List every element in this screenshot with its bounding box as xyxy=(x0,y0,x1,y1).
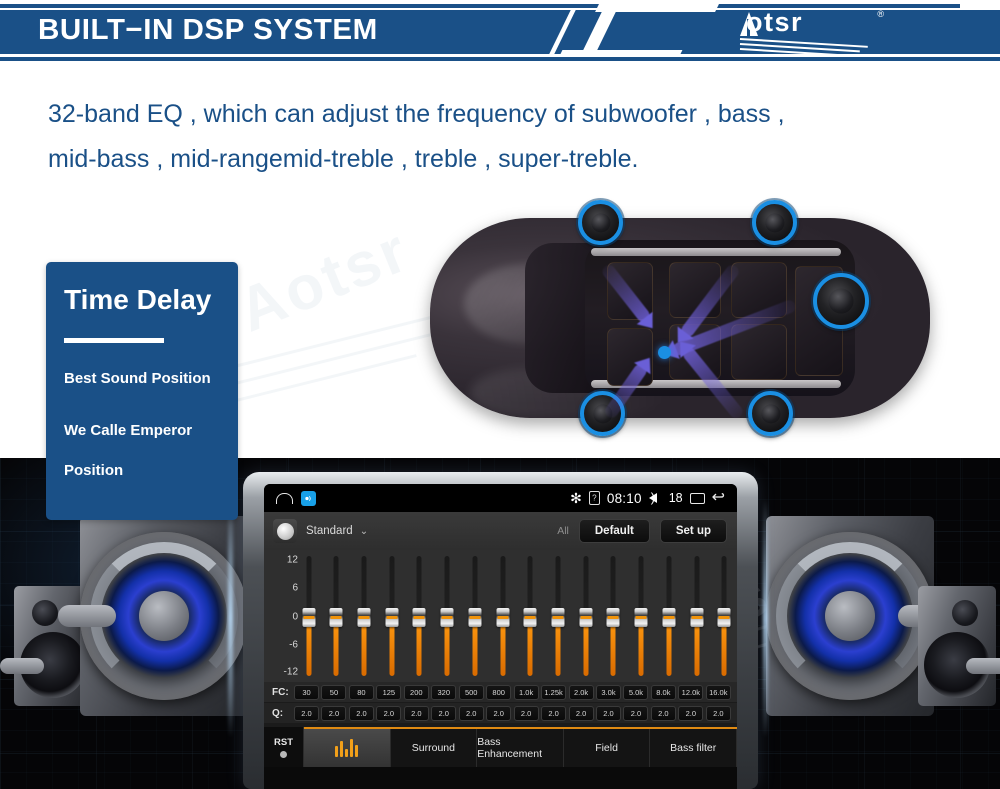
eq-slider-knob[interactable] xyxy=(718,608,731,627)
tweeter-icon xyxy=(952,600,978,626)
eq-q-row: Q: 2.02.02.02.02.02.02.02.02.02.02.02.02… xyxy=(264,703,737,723)
volume-level: 18 xyxy=(669,491,683,505)
bluetooth-icon: ✻ xyxy=(570,490,582,507)
eq-slider[interactable] xyxy=(357,556,370,676)
fc-value-cell[interactable]: 1.0k xyxy=(514,685,539,700)
eq-slider[interactable] xyxy=(413,556,426,676)
eq-slider-knob[interactable] xyxy=(524,608,537,627)
eq-slider[interactable] xyxy=(524,556,537,676)
q-value-cell[interactable]: 2.0 xyxy=(321,706,346,721)
time-delay-card: Time Delay Best Sound Position We Calle … xyxy=(46,262,238,520)
eq-scale-tick: 0 xyxy=(292,612,298,623)
fc-value-cell[interactable]: 30 xyxy=(294,685,319,700)
fc-value-cell[interactable]: 320 xyxy=(431,685,456,700)
android-status-bar: ✻ 08:10 18 ↩ xyxy=(264,484,737,512)
eq-slider-knob[interactable] xyxy=(413,608,426,627)
q-value-cell[interactable]: 2.0 xyxy=(486,706,511,721)
eq-slider-knob[interactable] xyxy=(441,608,454,627)
logo-speed-lines xyxy=(740,38,872,52)
eq-slider[interactable] xyxy=(607,556,620,676)
preset-indicator[interactable] xyxy=(273,519,297,543)
eq-slider[interactable] xyxy=(468,556,481,676)
q-value-cell[interactable]: 2.0 xyxy=(596,706,621,721)
q-value-cell[interactable]: 2.0 xyxy=(459,706,484,721)
app-icon[interactable] xyxy=(301,491,316,506)
logo-registered-mark: ® xyxy=(877,9,884,19)
logo-wordmark: otsr xyxy=(746,7,803,38)
head-unit-screen-foot xyxy=(264,767,737,789)
q-value-cell[interactable]: 2.0 xyxy=(294,706,319,721)
tab-field[interactable]: Field xyxy=(564,729,651,767)
subwoofer-left xyxy=(80,516,248,716)
subwoofer-right xyxy=(766,516,934,716)
speaker-set-right xyxy=(745,458,1000,789)
eq-slider[interactable] xyxy=(579,556,592,676)
fc-value-cell[interactable]: 200 xyxy=(404,685,429,700)
header-wedge-top xyxy=(595,0,721,12)
speaker-subwoofer xyxy=(813,273,869,329)
eq-slider[interactable] xyxy=(302,556,315,676)
q-value-cell[interactable]: 2.0 xyxy=(623,706,648,721)
tab-label: Bass Enhancement xyxy=(477,736,563,760)
eq-fc-row: FC: 3050801252003205008001.0k1.25k2.0k3.… xyxy=(264,682,737,702)
time-delay-line-3: Position xyxy=(64,462,123,479)
q-row-label: Q: xyxy=(272,708,294,719)
eq-slider[interactable] xyxy=(662,556,675,676)
car-cabin xyxy=(585,240,855,396)
eq-slider-group xyxy=(302,556,731,676)
q-value-cell[interactable]: 2.0 xyxy=(431,706,456,721)
fc-value-cell[interactable]: 80 xyxy=(349,685,374,700)
q-value-cell[interactable]: 2.0 xyxy=(651,706,676,721)
fc-value-cell[interactable]: 5.0k xyxy=(623,685,648,700)
intro-text: 32-band EQ , which can adjust the freque… xyxy=(48,92,988,182)
time-delay-line-2: We Calle Emperor xyxy=(64,422,192,439)
subwoofer-center xyxy=(825,591,875,641)
eq-slider[interactable] xyxy=(385,556,398,676)
fc-value-cell[interactable]: 125 xyxy=(376,685,401,700)
time-delay-title: Time Delay xyxy=(64,284,211,316)
q-value-cell[interactable]: 2.0 xyxy=(706,706,731,721)
reset-led-icon xyxy=(280,751,287,758)
best-sound-position-dot xyxy=(658,346,671,359)
light-glare-left xyxy=(228,498,233,738)
tab-label: Surround xyxy=(412,742,455,754)
eq-slider-knob[interactable] xyxy=(551,608,564,627)
head-unit-screen: ✻ 08:10 18 ↩ Standard ⌄ All Default Set … xyxy=(264,484,737,789)
eq-slider[interactable] xyxy=(635,556,648,676)
fc-value-cell[interactable]: 800 xyxy=(486,685,511,700)
eq-slider[interactable] xyxy=(441,556,454,676)
fc-value-cell[interactable]: 1.25k xyxy=(541,685,566,700)
q-value-cell[interactable]: 2.0 xyxy=(349,706,374,721)
eq-slider[interactable] xyxy=(690,556,703,676)
eq-slider-knob[interactable] xyxy=(330,608,343,627)
q-value-cell[interactable]: 2.0 xyxy=(569,706,594,721)
page-header: BUILT−IN DSP SYSTEM otsr ® xyxy=(0,0,1000,62)
q-value-cell[interactable]: 2.0 xyxy=(678,706,703,721)
speaker-front-right xyxy=(752,200,797,245)
status-clock: 08:10 xyxy=(607,491,642,506)
eq-slider[interactable] xyxy=(718,556,731,676)
header-rule-bottom xyxy=(0,57,1000,61)
eq-slider-knob[interactable] xyxy=(579,608,592,627)
eq-tab-bar: RST Surround Bass Enhancement xyxy=(264,727,737,767)
intro-line-1: 32-band EQ , which can adjust the freque… xyxy=(48,92,988,137)
time-delay-line-1: Best Sound Position xyxy=(64,370,211,387)
tweeter-icon xyxy=(32,600,58,626)
tab-label: Bass filter xyxy=(670,742,716,754)
car-head-unit: ✻ 08:10 18 ↩ Standard ⌄ All Default Set … xyxy=(243,472,758,789)
eq-slider-knob[interactable] xyxy=(468,608,481,627)
subwoofer-center xyxy=(139,591,189,641)
eq-scale-tick: 12 xyxy=(287,555,298,566)
eq-slider-knob[interactable] xyxy=(635,608,648,627)
q-value-cell[interactable]: 2.0 xyxy=(541,706,566,721)
eq-slider-knob[interactable] xyxy=(662,608,675,627)
preset-name[interactable]: Standard xyxy=(306,525,353,537)
back-icon[interactable]: ↩ xyxy=(712,490,725,506)
eq-slider-knob[interactable] xyxy=(496,608,509,627)
q-value-cell[interactable]: 2.0 xyxy=(376,706,401,721)
eq-slider-knob[interactable] xyxy=(607,608,620,627)
equalizer-graph: 12 6 0 -6 -12 xyxy=(264,550,737,682)
eq-db-scale: 12 6 0 -6 -12 xyxy=(270,556,298,676)
eq-slider-knob[interactable] xyxy=(302,608,315,627)
satellite-speaker-right xyxy=(918,586,996,706)
speaker-rear-right xyxy=(748,391,793,436)
default-button[interactable]: Default xyxy=(579,519,650,543)
eq-scale-tick: 6 xyxy=(292,583,298,594)
speaker-front-left xyxy=(578,200,623,245)
tab-label: Field xyxy=(595,742,618,754)
intro-line-2: mid-bass , mid-rangemid-treble , treble … xyxy=(48,137,988,182)
fc-value-cell[interactable]: 500 xyxy=(459,685,484,700)
watermark-text: Aotsr xyxy=(229,214,420,346)
fc-value-cell[interactable]: 50 xyxy=(321,685,346,700)
tab-bass-filter[interactable]: Bass filter xyxy=(650,729,737,767)
page-title: BUILT−IN DSP SYSTEM xyxy=(38,14,378,47)
time-delay-divider xyxy=(64,338,164,343)
eq-slider[interactable] xyxy=(330,556,343,676)
recents-icon[interactable] xyxy=(690,493,705,504)
q-value-cell[interactable]: 2.0 xyxy=(514,706,539,721)
eq-slider[interactable] xyxy=(551,556,564,676)
fc-value-cell[interactable]: 3.0k xyxy=(596,685,621,700)
eq-scale-tick: -12 xyxy=(284,667,298,678)
fc-row-label: FC: xyxy=(272,687,294,698)
setup-button[interactable]: Set up xyxy=(660,519,727,543)
tab-bass-enhancement[interactable]: Bass Enhancement xyxy=(477,729,564,767)
fc-value-cell[interactable]: 12.0k xyxy=(678,685,703,700)
tab-equalizer[interactable] xyxy=(304,729,391,767)
fc-value-cell[interactable]: 2.0k xyxy=(569,685,594,700)
eq-toolbar: Standard ⌄ All Default Set up xyxy=(264,512,737,550)
fc-value-cell[interactable]: 16.0k xyxy=(706,685,731,700)
eq-slider-knob[interactable] xyxy=(357,608,370,627)
car-top-view-diagram xyxy=(400,178,960,460)
sim-card-icon xyxy=(589,491,600,505)
tab-surround[interactable]: Surround xyxy=(391,729,478,767)
equalizer-icon xyxy=(335,739,358,757)
q-value-cell[interactable]: 2.0 xyxy=(404,706,429,721)
eq-slider-knob[interactable] xyxy=(690,608,703,627)
eq-slider-knob[interactable] xyxy=(385,608,398,627)
reset-label: RST xyxy=(274,737,293,748)
brand-logo: otsr ® xyxy=(732,8,882,54)
eq-scale-tick: -6 xyxy=(289,640,298,651)
light-glare-right xyxy=(763,498,768,738)
fc-value-cell[interactable]: 8.0k xyxy=(651,685,676,700)
chevron-down-icon[interactable]: ⌄ xyxy=(360,526,368,537)
all-label[interactable]: All xyxy=(557,525,569,537)
home-icon[interactable] xyxy=(276,493,293,504)
reset-button[interactable]: RST xyxy=(264,727,304,767)
eq-slider[interactable] xyxy=(496,556,509,676)
volume-icon xyxy=(649,493,657,503)
